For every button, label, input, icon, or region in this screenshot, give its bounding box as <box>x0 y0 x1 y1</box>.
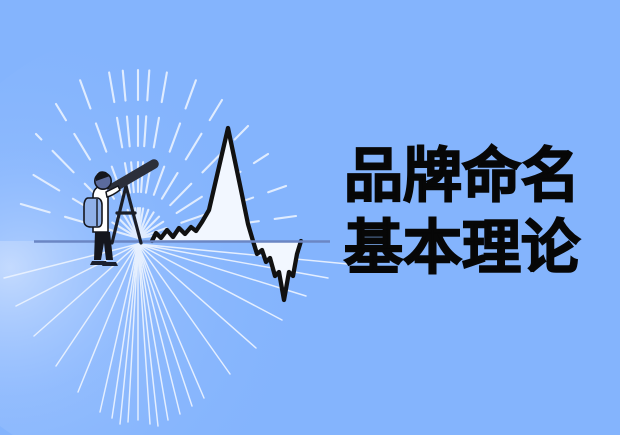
headline-block: 品牌命名 基本理论 <box>344 140 588 284</box>
headline-line-2: 基本理论 <box>344 212 588 284</box>
banner-root: 品牌命名 基本理论 <box>0 0 620 435</box>
headline-line-1: 品牌命名 <box>344 140 588 212</box>
